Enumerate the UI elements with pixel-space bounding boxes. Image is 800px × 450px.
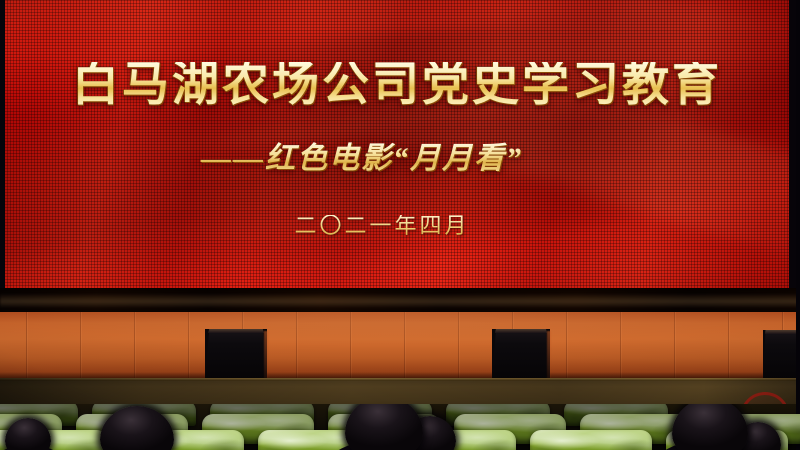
monitor-body <box>205 329 267 380</box>
led-display-screen: 白马湖农场公司党史学习教育 ——红色电影“月月看” 二〇二一年四月 <box>4 0 790 289</box>
audience-seat <box>530 430 652 450</box>
screen-bezel-left <box>0 0 5 292</box>
floor-glow <box>0 312 800 380</box>
monitor-body <box>763 330 800 380</box>
backwall-sheen <box>0 288 800 314</box>
stage-monitor-right <box>763 330 800 380</box>
screen-text-block: 白马湖农场公司党史学习教育 ——红色电影“月月看” 二〇二一年四月 <box>4 0 790 289</box>
monitor-top-lip <box>765 330 798 334</box>
subtitle: ——红色电影“月月看” <box>4 142 790 175</box>
monitor-top-lip <box>208 329 264 333</box>
audience-member-head <box>672 404 748 450</box>
frame-edge-right <box>796 0 800 450</box>
stage-back-wall <box>0 288 800 314</box>
monitor-rim <box>547 331 551 380</box>
stage-monitor-center <box>492 329 550 380</box>
monitor-rim <box>264 331 268 380</box>
audience-member-head <box>345 404 423 450</box>
event-date: 二〇二一年四月 <box>4 215 790 237</box>
audience-seating <box>0 404 800 450</box>
monitor-top-lip <box>495 329 547 333</box>
page-title: 白马湖农场公司党史学习教育 <box>4 62 790 109</box>
seat-camouflage-pattern <box>530 430 652 450</box>
monitor-body <box>492 329 550 380</box>
auditorium-scene: 白马湖农场公司党史学习教育 ——红色电影“月月看” 二〇二一年四月 <box>0 0 800 450</box>
stage-floor <box>0 312 800 380</box>
stage-monitor-left <box>205 329 267 380</box>
